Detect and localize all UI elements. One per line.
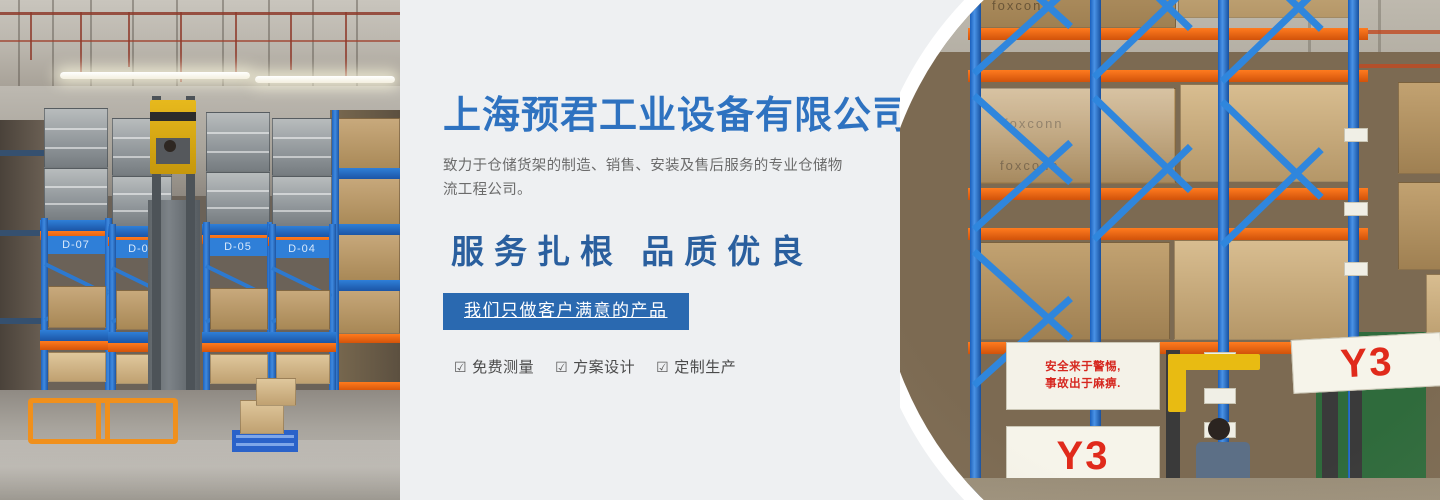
ceiling-light: [255, 76, 395, 83]
carton: [336, 286, 400, 334]
plastic-tote: [44, 108, 108, 168]
ceiling-light: [60, 72, 250, 79]
cta-button[interactable]: 我们只做客户满意的产品: [443, 293, 689, 331]
sprinkler-pipe: [0, 40, 400, 42]
pipe-hanger: [80, 12, 82, 72]
rack-beam: [202, 343, 274, 352]
checkbox-checked-icon: ☑: [656, 360, 669, 374]
rack-beam: [268, 226, 336, 237]
background-shelf-beam: [0, 318, 46, 324]
company-slogan: 服务扎根 品质优良: [451, 225, 963, 273]
carton: [336, 118, 400, 172]
rack-beam: [330, 334, 400, 343]
plastic-tote: [272, 118, 332, 176]
pipe-hanger: [128, 12, 130, 67]
plastic-tote: [44, 168, 108, 222]
rack-beam: [40, 220, 112, 231]
rack-beam: [330, 168, 400, 179]
rack-beam: [268, 332, 336, 343]
hero-banner: D-07 D-06: [0, 0, 1440, 500]
feature-label: 免费测量: [472, 356, 534, 377]
feature-label: 定制生产: [674, 356, 736, 377]
pipe-hanger: [345, 12, 347, 78]
photo-vignette: [900, 0, 1440, 500]
background-shelving: [0, 120, 46, 420]
right-photo-wrapper: foxconn foxconn foxconn foxconn: [900, 0, 1440, 500]
rack-beam: [40, 341, 112, 350]
rack-beam: [202, 332, 274, 343]
plastic-tote: [206, 172, 270, 226]
carton: [210, 288, 268, 330]
aisle-sign-far-text: Y3: [1339, 339, 1394, 387]
checkbox-checked-icon: ☑: [454, 360, 467, 374]
floor-reflection: [0, 440, 400, 500]
rack-beam: [202, 224, 274, 235]
plastic-tote: [272, 176, 332, 228]
rack-beam: [40, 330, 112, 341]
rack-beam: [330, 224, 400, 235]
plastic-tote: [206, 112, 270, 172]
rack-location-label: D-05: [207, 238, 269, 256]
pipe-hanger: [30, 12, 32, 60]
sprinkler-pipe: [0, 12, 400, 15]
carton: [336, 176, 400, 228]
feature-item: ☑ 方案设计: [555, 356, 635, 377]
rack-location-label: D-04: [273, 240, 331, 258]
checkbox-checked-icon: ☑: [555, 360, 568, 374]
feature-list: ☑ 免费测量 ☑ 方案设计 ☑ 定制生产: [454, 356, 963, 377]
carton: [276, 290, 330, 330]
right-warehouse-photo: foxconn foxconn foxconn foxconn: [900, 0, 1440, 500]
feature-label: 方案设计: [573, 356, 635, 377]
carton: [256, 378, 296, 406]
aisle-sign-far: Y3: [1291, 332, 1440, 394]
left-warehouse-photo: D-07 D-06: [0, 0, 400, 500]
rack-guard: [96, 398, 178, 444]
carton: [48, 286, 106, 328]
feature-item: ☑ 免费测量: [454, 356, 534, 377]
rack-beam: [330, 280, 400, 291]
truck-fork-carriage: [150, 112, 196, 121]
rack-location-label: D-07: [45, 236, 107, 254]
rack-beam: [268, 343, 336, 352]
company-subtitle: 致力于仓储货架的制造、销售、安装及售后服务的专业仓储物流工程公司。: [443, 155, 855, 203]
pipe-hanger: [290, 12, 292, 70]
text-block: 上海预君工业设备有限公司 致力于仓储货架的制造、销售、安装及售后服务的专业仓储物…: [443, 96, 963, 377]
background-shelf-beam: [0, 150, 46, 156]
carton: [336, 232, 400, 282]
feature-item: ☑ 定制生产: [656, 356, 736, 377]
pipe-hanger: [235, 12, 237, 74]
truck-operator: [164, 140, 176, 152]
carton: [48, 352, 106, 382]
company-title: 上海预君工业设备有限公司: [443, 96, 963, 138]
